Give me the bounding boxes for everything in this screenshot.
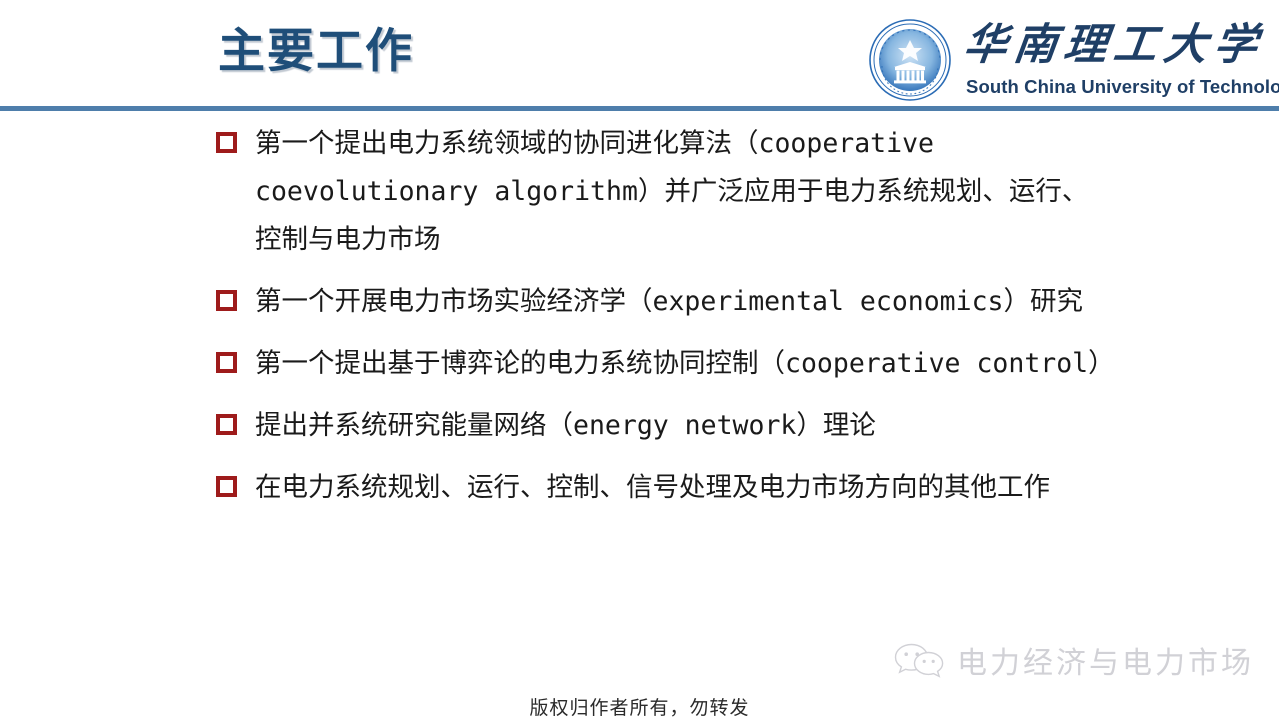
list-item: 提出并系统研究能量网络（energy network）理论 xyxy=(0,402,1279,450)
square-bullet-icon xyxy=(216,132,237,153)
wechat-account-name: 电力经济与电力市场 xyxy=(957,638,1254,682)
scut-emblem-icon xyxy=(868,18,952,102)
wechat-watermark: 电力经济与电力市场 xyxy=(893,634,1273,686)
logo-wordmark: 华南理工大学 South China University of Technol… xyxy=(964,14,1272,106)
square-bullet-icon xyxy=(216,290,237,311)
list-item: 第一个提出基于博弈论的电力系统协同控制（cooperative control） xyxy=(0,340,1279,388)
square-bullet-icon xyxy=(216,414,237,435)
list-item-text: 第一个提出基于博弈论的电力系统协同控制（cooperative control） xyxy=(255,348,1115,379)
list-item: 第一个开展电力市场实验经济学（experimental economics）研究 xyxy=(0,278,1279,326)
list-item-text: 第一个提出电力系统领域的协同进化算法（cooperative coevoluti… xyxy=(255,128,1088,255)
university-logo: 华南理工大学 South China University of Technol… xyxy=(868,14,1272,106)
bullet-list: 第一个提出电力系统领域的协同进化算法（cooperative coevoluti… xyxy=(0,120,1279,526)
list-item-text: 在电力系统规划、运行、控制、信号处理及电力市场方向的其他工作 xyxy=(255,472,1050,503)
list-item: 第一个提出电力系统领域的协同进化算法（cooperative coevoluti… xyxy=(0,120,1279,264)
copyright-note: 版权归作者所有，勿转发 xyxy=(0,693,1279,720)
list-item-text: 提出并系统研究能量网络（energy network）理论 xyxy=(255,410,876,441)
wechat-icon xyxy=(893,640,945,680)
page-title: 主要工作 xyxy=(218,24,414,78)
logo-chinese-name: 华南理工大学 xyxy=(960,16,1275,74)
header-divider xyxy=(0,106,1279,111)
presentation-slide: 主要工作 xyxy=(0,0,1279,720)
list-item-text: 第一个开展电力市场实验经济学（experimental economics）研究 xyxy=(255,286,1083,317)
square-bullet-icon xyxy=(216,476,237,497)
logo-english-name: South China University of Technology xyxy=(966,76,1279,98)
slide-header: 主要工作 xyxy=(0,0,1279,108)
square-bullet-icon xyxy=(216,352,237,373)
list-item: 在电力系统规划、运行、控制、信号处理及电力市场方向的其他工作 xyxy=(0,464,1279,512)
